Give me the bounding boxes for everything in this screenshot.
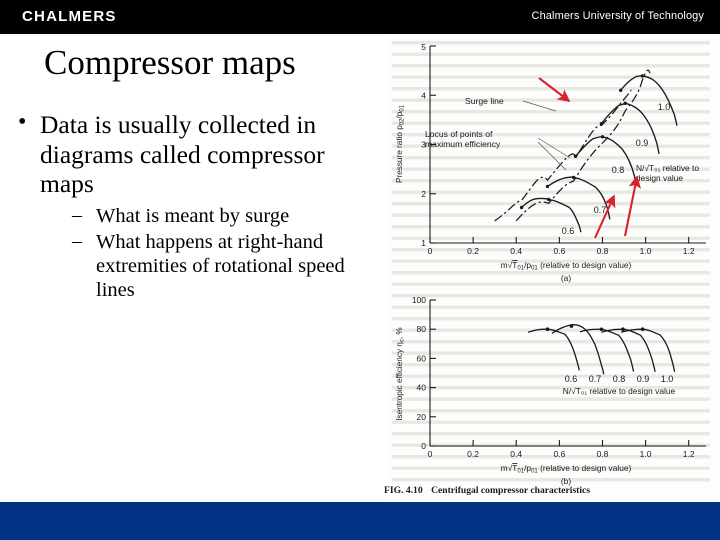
speed-label-0.7: 0.7 [594, 205, 607, 215]
svg-text:1: 1 [421, 238, 426, 248]
bullet-item-sub-1: – What is meant by surge [40, 205, 380, 229]
svg-text:0: 0 [421, 441, 426, 451]
svg-text:1.0: 1.0 [640, 449, 652, 459]
svg-text:80: 80 [417, 324, 427, 334]
svg-text:0: 0 [428, 246, 433, 256]
figure-caption-text: Centrifugal compressor characteristics [431, 485, 590, 496]
svg-text:60: 60 [417, 353, 427, 363]
svg-text:0.8: 0.8 [597, 449, 609, 459]
eff-label-0.9: 0.9 [637, 374, 650, 384]
figure-caption-row: FIG. 4.10 Centrifugal compressor charact… [384, 485, 714, 496]
compressor-characteristics-figure: 1 2 3 4 5 0 0.2 0.4 0.6 0.8 [388, 38, 718, 498]
eff-label-1.0: 1.0 [661, 374, 674, 384]
svg-text:40: 40 [417, 383, 427, 393]
svg-text:0.2: 0.2 [467, 246, 479, 256]
eff-label-0.7: 0.7 [589, 374, 602, 384]
locus-annotation-line2: maximum efficiency [425, 139, 501, 149]
eff-label-0.8: 0.8 [613, 374, 626, 384]
bottom-accent-bar [0, 502, 720, 540]
svg-text:0.6: 0.6 [553, 246, 565, 256]
page-title: Compressor maps [44, 44, 296, 83]
bullet-item-primary: • Data is usually collected in diagrams … [10, 110, 380, 303]
figure-image: 1 2 3 4 5 0 0.2 0.4 0.6 0.8 [388, 38, 718, 498]
chart-a-legend-line1: N/√T₀₁ relative to [636, 163, 699, 173]
svg-text:20: 20 [417, 412, 427, 422]
svg-text:0: 0 [428, 449, 433, 459]
svg-text:0.8: 0.8 [597, 246, 609, 256]
svg-text:0.4: 0.4 [510, 246, 522, 256]
bullet-marker-icon: • [18, 109, 26, 137]
svg-text:2: 2 [421, 189, 426, 199]
bullet-text-sub-2: What happens at right-hand extremities o… [96, 231, 345, 301]
speed-label-0.6: 0.6 [562, 226, 575, 236]
chart-a-legend-line2: design value [636, 173, 683, 183]
svg-text:0.6: 0.6 [553, 449, 565, 459]
bullet-text-sub-1: What is meant by surge [96, 205, 289, 227]
chart-a-panel-label: (a) [561, 273, 571, 283]
svg-text:1.2: 1.2 [683, 246, 695, 256]
svg-text:4: 4 [421, 90, 426, 100]
eff-label-0.6: 0.6 [565, 374, 578, 384]
bullet-item-sub-2: – What happens at right-hand extremities… [40, 231, 380, 303]
bullet-sublist: – What is meant by surge – What happens … [40, 205, 380, 303]
surge-line-annotation: Surge line [465, 96, 504, 106]
speed-label-1.0: 1.0 [658, 102, 671, 112]
dash-marker-icon: – [72, 230, 82, 253]
slide-body: • Data is usually collected in diagrams … [10, 110, 380, 307]
chart-b-legend: N/√T₀₁ relative to design value [563, 386, 676, 396]
svg-text:1.0: 1.0 [640, 246, 652, 256]
svg-text:5: 5 [421, 42, 426, 52]
speed-label-0.8: 0.8 [612, 165, 625, 175]
figure-caption-label: FIG. 4.10 [384, 485, 423, 496]
svg-text:0.2: 0.2 [467, 449, 479, 459]
bullet-text-primary: Data is usually collected in diagrams ca… [40, 110, 325, 198]
svg-text:100: 100 [412, 295, 426, 305]
dash-marker-icon: – [72, 204, 82, 227]
top-header-bar: CHALMERS Chalmers University of Technolo… [0, 0, 720, 34]
chalmers-logo: CHALMERS [22, 8, 117, 25]
svg-text:0.4: 0.4 [510, 449, 522, 459]
university-name-label: Chalmers University of Technology [532, 10, 704, 22]
speed-label-0.9: 0.9 [636, 138, 649, 148]
svg-text:1.2: 1.2 [683, 449, 695, 459]
locus-annotation-line1: Locus of points of [425, 129, 493, 139]
